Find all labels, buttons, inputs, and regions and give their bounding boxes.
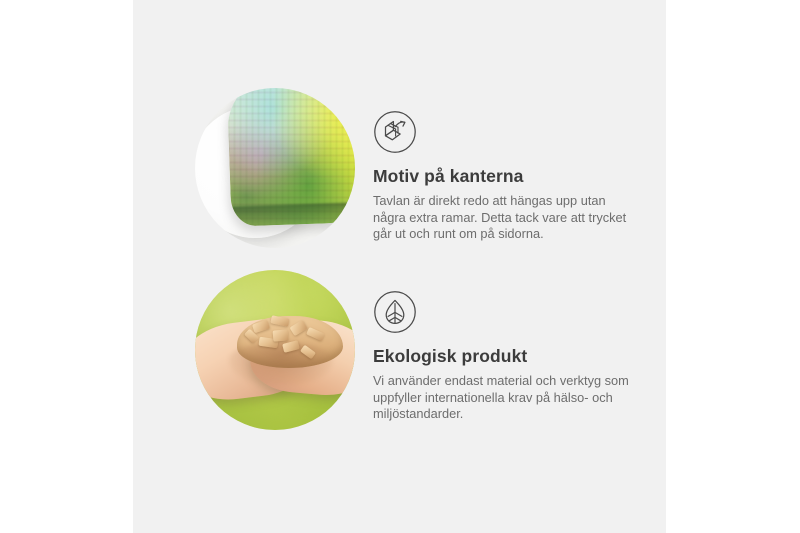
canvas-print-photo [195, 88, 355, 248]
content-panel: Motiv på kanterna Tavlan är direkt redo … [133, 0, 666, 533]
feature-title: Motiv på kanterna [373, 166, 635, 187]
wood-chip [273, 329, 289, 341]
canvas-print-object [226, 88, 355, 227]
feature-row-canvas-edges: Motiv på kanterna Tavlan är direkt redo … [133, 88, 635, 248]
leaf-icon [373, 290, 417, 334]
canvas-wrapped-edges-icon [373, 110, 417, 154]
eco-hands-woodchips-photo [195, 270, 355, 430]
canvas-scene [195, 88, 355, 248]
feature-text-eco-product: Ekologisk produkt Vi använder endast mat… [355, 270, 635, 423]
feature-title: Ekologisk produkt [373, 346, 635, 367]
feature-description: Vi använder endast material och verktyg … [373, 373, 635, 423]
feature-description: Tavlan är direkt redo att hängas upp uta… [373, 193, 635, 243]
canvas-side-edge [231, 201, 355, 226]
feature-row-eco-product: Ekologisk produkt Vi använder endast mat… [133, 270, 635, 430]
feature-text-canvas-edges: Motiv på kanterna Tavlan är direkt redo … [355, 88, 635, 243]
eco-scene [195, 270, 355, 430]
product-feature-banner: Motiv på kanterna Tavlan är direkt redo … [0, 0, 800, 533]
